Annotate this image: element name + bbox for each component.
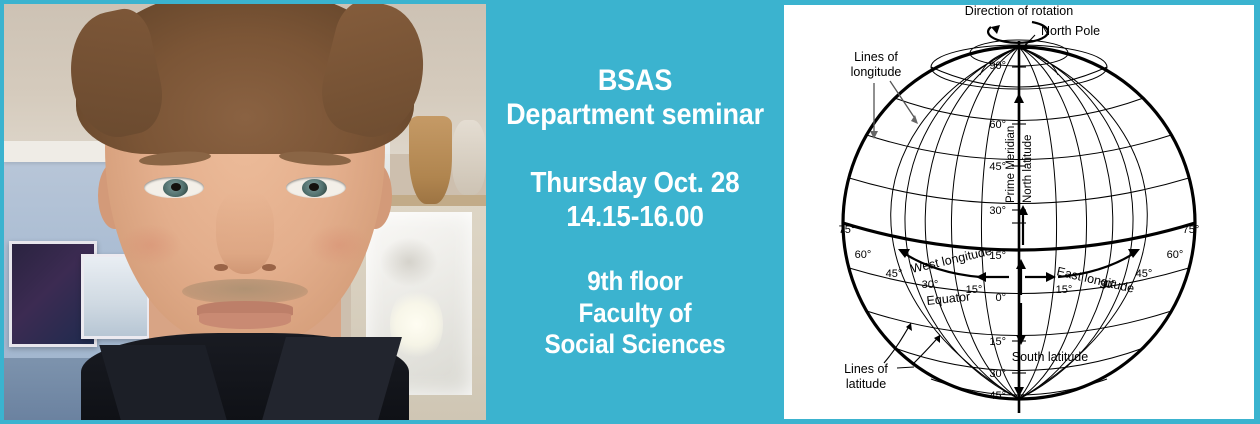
- lat-tick-n45: 45°: [989, 161, 1006, 173]
- seminar-subtitle: Department seminar: [505, 98, 766, 133]
- moustache: [182, 279, 307, 304]
- seminar-announcement-banner: BSAS Department seminar Thursday Oct. 28…: [0, 0, 1260, 424]
- label-lines-of-longitude-2: longitude: [851, 65, 902, 79]
- globe-graticule-figure: 90° 60° 45° 30° 15° 0° 15° 30° 45° 15° 3…: [784, 5, 1254, 419]
- lat-tick-90: 90°: [989, 60, 1006, 72]
- north-lat-arrowhead-upper: [1014, 93, 1024, 103]
- lat-tick-equator: 0°: [995, 292, 1006, 304]
- datetime-block: Thursday Oct. 28 14.15-16.00: [490, 167, 780, 234]
- lon-tick-e75: 75°: [1183, 224, 1200, 236]
- label-west-longitude: West longitude: [910, 244, 994, 276]
- nose: [216, 191, 274, 274]
- label-lines-of-latitude-1: Lines of: [844, 362, 888, 376]
- title-block: BSAS Department seminar: [490, 64, 780, 134]
- longitude-leader-2-head: [911, 115, 918, 124]
- label-direction-of-rotation: Direction of rotation: [965, 5, 1073, 18]
- lon-tick-w30: 30°: [922, 279, 939, 291]
- collar-right: [262, 337, 402, 420]
- venue-block: 9th floor Faculty of Social Sciences: [490, 266, 780, 360]
- meridian-e60: [1019, 47, 1133, 399]
- label-north-latitude: North latitude: [1022, 135, 1034, 203]
- announcement-text-panel: BSAS Department seminar Thursday Oct. 28…: [490, 0, 780, 424]
- lon-tick-e60: 60°: [1167, 249, 1184, 261]
- lon-tick-e15: 15°: [1056, 284, 1073, 296]
- photo-scene: [4, 4, 486, 420]
- pupil-right: [309, 183, 319, 191]
- pupil-left: [171, 183, 181, 191]
- label-lines-of-latitude-2: latitude: [846, 377, 886, 391]
- meridian-e45: [1019, 47, 1113, 399]
- wooden-vase: [409, 116, 452, 203]
- center-up-arrowhead: [1016, 259, 1026, 269]
- collar-left: [99, 345, 227, 420]
- speaker-portrait-photo: [4, 4, 486, 420]
- lat-tick-s45: 45°: [989, 390, 1006, 402]
- lon-tick-w60: 60°: [855, 249, 872, 261]
- lat-tick-s30: 30°: [989, 368, 1006, 380]
- seminar-title: BSAS: [505, 64, 766, 99]
- meridian-e75: [1019, 47, 1147, 399]
- lat-tick-n60: 60°: [989, 119, 1006, 131]
- latitude-leader-1: [897, 367, 914, 368]
- label-lines-of-longitude-1: Lines of: [854, 50, 898, 64]
- south-lat-arrowhead-upper: [1016, 335, 1026, 345]
- label-equator: Equator: [926, 289, 971, 307]
- lat-tick-n30: 30°: [989, 205, 1006, 217]
- label-north-pole: North Pole: [1041, 24, 1100, 38]
- globe-diagram-svg: 90° 60° 45° 30° 15° 0° 15° 30° 45° 15° 3…: [784, 5, 1254, 419]
- venue-department: Social Sciences: [505, 329, 766, 360]
- label-prime-meridian: Prime Meridian: [1005, 126, 1017, 203]
- dried-flowers: [380, 237, 438, 287]
- rotation-arrowhead: [991, 25, 1000, 34]
- lon-tick-w75: 75°: [839, 224, 856, 236]
- seminar-time: 14.15-16.00: [505, 201, 766, 235]
- lon-tick-w45: 45°: [886, 268, 903, 280]
- lon-tick-e45: 45°: [1136, 268, 1153, 280]
- label-south-latitude: South latitude: [1012, 350, 1088, 364]
- venue-faculty: Faculty of: [505, 298, 766, 329]
- decorative-plate: [452, 120, 486, 195]
- cheek-right: [308, 224, 371, 266]
- lat-tick-s15: 15°: [989, 336, 1006, 348]
- seminar-date: Thursday Oct. 28: [505, 167, 766, 201]
- venue-floor: 9th floor: [505, 266, 766, 297]
- cheek-left: [120, 224, 183, 266]
